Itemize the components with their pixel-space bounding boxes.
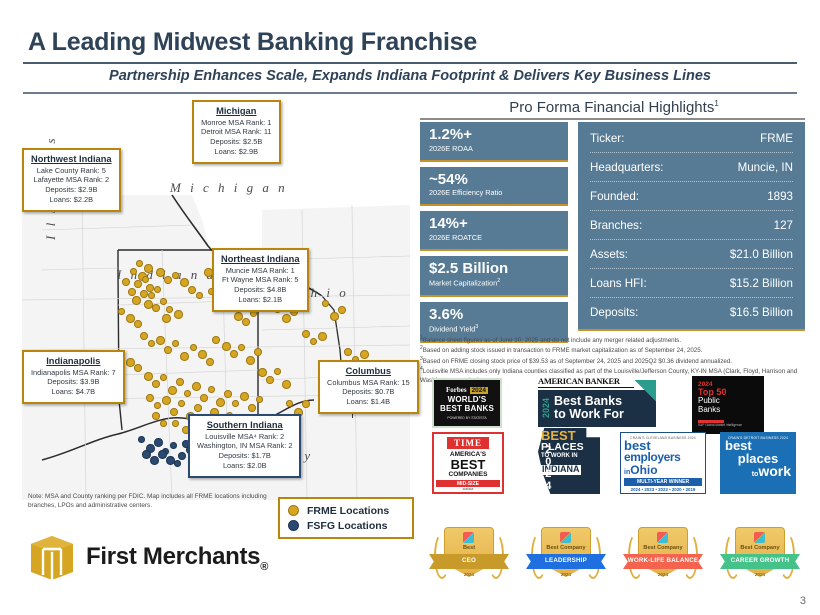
frme-location-dot (338, 306, 346, 314)
row-value: $15.2 Billion (730, 277, 793, 290)
frme-location-dot (302, 400, 310, 408)
metric-tile-roatce: 14%+ 2026E ROATCE (420, 211, 568, 251)
frme-location-dot (230, 350, 238, 358)
comparably-logo-icon (657, 532, 668, 543)
award-best-places-to-work-detroit: CRAIN'S DETROIT BUSINESS 2024 best place… (720, 432, 796, 494)
row-key: Ticker: (590, 132, 624, 145)
frme-location-dot (192, 382, 201, 391)
frme-location-dot (154, 402, 161, 409)
frme-location-dot (168, 386, 177, 395)
row-value: $16.5 Billion (730, 306, 793, 319)
callout-title: Columbus (327, 366, 410, 376)
frme-location-dot (164, 346, 172, 354)
american-banker-line-2: to Work For (554, 407, 624, 421)
frme-location-dot (148, 292, 155, 299)
award-best-places-to-work-in-indiana: BEST PLACES TO WORK IN INDIANA 2024 (538, 428, 600, 494)
fsfg-location-dot (154, 438, 163, 447)
row-key: Branches: (590, 219, 642, 232)
medal-ribbon: LEADERSHIP (526, 554, 606, 569)
row-value: Muncie, IN (738, 161, 793, 174)
table-row: Loans HFI: $15.2 Billion (590, 269, 793, 298)
forbes-source: POWERED BY STATISTA (447, 416, 486, 420)
callout-indianapolis[interactable]: Indianapolis Indianapolis MSA Rank: 7 De… (22, 350, 125, 404)
american-banker-text: Best Banks to Work For (554, 395, 624, 421)
award-time-americas-best-companies: TIME AMERICA'S BEST COMPANIES MID-SIZE s… (432, 432, 504, 494)
page-number: 3 (800, 595, 806, 607)
time-line-3: COMPANIES (436, 471, 500, 478)
callout-northwest-indiana[interactable]: Northwest Indiana Lake County Rank: 5 La… (22, 148, 121, 212)
slide: A Leading Midwest Banking Franchise Part… (0, 0, 820, 615)
frme-location-dot (122, 278, 130, 286)
medal-ribbon: CEO (429, 554, 509, 569)
callout-line: Loans: $4.7B (31, 387, 116, 397)
frme-location-dot (258, 368, 267, 377)
frme-location-dot (156, 268, 165, 277)
metric-value: 1.2%+ (429, 127, 559, 144)
row-key: Headquarters: (590, 161, 663, 174)
frme-location-dot (344, 348, 352, 356)
callout-line: Detroit MSA Rank: 11 (201, 127, 272, 137)
award-american-banker-best-banks-to-work-for: AMERICAN BANKER 2024 Best Banks to Work … (538, 376, 656, 430)
frme-location-dot (152, 412, 160, 420)
forbes-header: Forbes 2024 (446, 386, 488, 394)
frme-location-dot (172, 340, 179, 347)
medal-subtitle: Best Company (523, 545, 609, 551)
comparably-medallions: Best CEO 2024 Best Company LEADERSHIP 20… (420, 525, 812, 605)
fsfg-location-dot (170, 442, 177, 449)
row-key: Loans HFI: (590, 277, 647, 290)
callout-columbus[interactable]: Columbus Columbus MSA Rank: 15 Deposits:… (318, 360, 419, 414)
callout-line: Deposits: $3.9B (31, 377, 116, 387)
callout-line: Ft Wayne MSA Rank: 5 (221, 275, 300, 285)
callout-line: Loans: $2.0B (197, 461, 292, 471)
frme-location-dot (234, 312, 243, 321)
frme-location-dot (144, 264, 153, 273)
callout-title: Northeast Indiana (221, 254, 300, 264)
metric-label: 2026E ROAA (429, 145, 559, 154)
callout-southern-indiana[interactable]: Southern Indiana Louisville MSA⁴ Rank: 2… (188, 414, 301, 478)
title-divider (23, 62, 797, 64)
financial-title-footnote-marker: 1 (714, 99, 718, 108)
fsfg-location-dot (166, 456, 175, 465)
metric-tile-efficiency-ratio: ~54% 2026E Efficiency Ratio (420, 167, 568, 207)
row-key: Assets: (590, 248, 628, 261)
callout-line: Deposits: $1.7B (197, 451, 292, 461)
financial-title-divider (420, 118, 805, 120)
fsfg-location-dot (138, 436, 145, 443)
table-row: Founded: 1893 (590, 182, 793, 211)
page-title: A Leading Midwest Banking Franchise (28, 28, 477, 57)
metric-label: 2026E Efficiency Ratio (429, 189, 559, 198)
frme-location-dot (162, 314, 171, 323)
frme-location-dot (238, 344, 245, 351)
frme-location-dot (128, 288, 136, 296)
metric-value: 3.6% (429, 307, 559, 324)
frme-location-dot (318, 332, 327, 341)
footnote-1: 1Balance sheet figures as of June 30, 20… (420, 335, 810, 345)
subtitle-divider (23, 92, 797, 94)
metric-tile-market-cap: $2.5 Billion Market Capitalization2 (420, 256, 568, 297)
company-facts-table: Ticker: FRME Headquarters: Muncie, IN Fo… (578, 122, 805, 331)
medal-ribbon: WORK-LIFE BALANCE (623, 554, 703, 569)
ohio-years: 2024 • 2023 • 2022 • 2020 • 2019 (624, 487, 702, 492)
metric-label: 2026E ROATCE (429, 234, 559, 243)
fsfg-location-dot (174, 460, 181, 467)
callout-line: Loans: $2.9B (201, 147, 272, 157)
frme-location-dot (162, 396, 171, 405)
award-best-employers-in-ohio: CRAIN'S CLEVELAND BUSINESS 2024 best emp… (620, 432, 706, 494)
fsfg-location-dot (142, 450, 151, 459)
callout-title: Southern Indiana (197, 420, 292, 430)
frme-location-dot (132, 296, 141, 305)
callout-line: Deposits: $2.5B (201, 137, 272, 147)
frme-location-dot (160, 374, 167, 381)
time-brand: TIME (447, 437, 489, 449)
company-name: First Merchants® (86, 543, 268, 573)
table-row: Ticker: FRME (590, 124, 793, 153)
callout-line: Columbus MSA Rank: 15 (327, 378, 410, 388)
frme-location-dot (154, 286, 161, 293)
medal-subtitle: Best (426, 545, 512, 551)
frme-location-dot (176, 378, 184, 386)
frme-location-dot (178, 400, 185, 407)
medal-best-leadership: Best Company LEADERSHIP 2024 (523, 525, 609, 601)
frme-location-dot (152, 380, 160, 388)
medal-ribbon: CAREER GROWTH (720, 554, 800, 569)
callout-line: Loans: $1.4B (327, 397, 410, 407)
frme-location-dot (166, 306, 173, 313)
frme-location-dot (172, 272, 179, 279)
frme-location-dot (144, 372, 153, 381)
ribbon-corner-icon (634, 380, 656, 402)
financial-highlights-title-text: Pro Forma Financial Highlights (509, 99, 714, 116)
frme-location-dot (152, 304, 160, 312)
callout-line: Lake County Rank: 5 (31, 166, 112, 176)
callout-line: Deposits: $0.7B (327, 387, 410, 397)
footnote-3: 3Based on FRME closing stock price of $3… (420, 356, 810, 366)
frme-location-dot (256, 396, 263, 403)
time-year: 2024 (436, 491, 500, 494)
frme-location-dot (330, 312, 339, 321)
callout-michigan[interactable]: Michigan Monroe MSA Rank: 1 Detroit MSA … (192, 100, 281, 164)
metric-label: Dividend Yield3 (429, 324, 559, 334)
fsfg-location-dot (178, 452, 186, 460)
time-line-2: BEST (436, 458, 500, 471)
fsfg-dot-icon (288, 520, 299, 531)
comparably-logo-icon (463, 532, 474, 543)
frme-location-dot (160, 298, 167, 305)
frme-location-dot (254, 348, 262, 356)
callout-line: Muncie MSA Rank: 1 (221, 266, 300, 276)
callout-line: Loans: $2.1B (221, 295, 300, 305)
frme-location-dot (180, 278, 189, 287)
table-row: Deposits: $16.5 Billion (590, 298, 793, 327)
metric-value: ~54% (429, 172, 559, 189)
legend-item-frme: FRME Locations (288, 505, 404, 517)
frme-location-dot (174, 310, 183, 319)
frme-location-dot (136, 260, 143, 267)
frme-location-dot (126, 314, 135, 323)
frme-location-dot (140, 290, 148, 298)
frme-location-dot (172, 420, 179, 427)
ohio-line-3: inOhio (624, 464, 702, 476)
state-label-michigan: M i c h i g a n (170, 180, 288, 196)
legend-item-fsfg: FSFG Locations (288, 520, 404, 532)
frme-location-dot (170, 408, 178, 416)
metric-value: 14%+ (429, 216, 559, 233)
frme-location-dot (246, 356, 255, 365)
frme-location-dot (240, 392, 249, 401)
detroit-line-3: towork (725, 465, 791, 479)
frme-location-dot (184, 390, 191, 397)
forbes-brand: Forbes (446, 386, 467, 394)
frme-location-dot (310, 338, 317, 345)
frme-location-dot (134, 364, 142, 372)
medal-best-ceo: Best CEO 2024 (426, 525, 512, 601)
medal-subtitle: Best Company (620, 545, 706, 551)
metric-tile-roaa: 1.2%+ 2026E ROAA (420, 122, 568, 162)
frme-location-dot (140, 332, 148, 340)
map-note: Note: MSA and County ranking per FDIC. M… (28, 492, 278, 511)
frme-location-dot (322, 300, 329, 307)
row-value: 1893 (767, 190, 793, 203)
metric-tiles: 1.2%+ 2026E ROAA ~54% 2026E Efficiency R… (420, 122, 568, 348)
table-row: Headquarters: Muncie, IN (590, 153, 793, 182)
callout-title: Michigan (201, 106, 272, 116)
row-key: Founded: (590, 190, 639, 203)
row-value: $21.0 Billion (730, 248, 793, 261)
award-forbes-worlds-best-banks: Forbes 2024 WORLD'S BEST BANKS POWERED B… (432, 378, 502, 428)
callout-line: Indianapolis MSA Rank: 7 (31, 368, 116, 378)
metric-value: $2.5 Billion (429, 261, 559, 278)
frme-location-dot (302, 330, 310, 338)
bpi-year: 2024 (543, 444, 552, 492)
row-value: FRME (760, 132, 793, 145)
medal-year: 2024 (717, 572, 803, 577)
frme-location-dot (160, 420, 167, 427)
table-row: Branches: 127 (590, 211, 793, 240)
frme-location-dot (282, 380, 291, 389)
legend-label: FSFG Locations (307, 520, 388, 532)
footnote-2: 2Based on adding stock issued in transac… (420, 345, 810, 355)
first-merchants-cube-icon (30, 535, 74, 581)
frme-location-dot (222, 342, 231, 351)
frme-location-dot (156, 336, 165, 345)
callout-line: Washington, IN MSA Rank: 2 (197, 441, 292, 451)
frme-location-dot (206, 358, 214, 366)
frme-location-dot (180, 352, 189, 361)
table-row: Assets: $21.0 Billion (590, 240, 793, 269)
ohio-band: MULTI-YEAR WINNER (624, 478, 702, 486)
medal-career-growth: Best Company CAREER GROWTH 2024 (717, 525, 803, 601)
frme-location-dot (142, 276, 149, 283)
callout-line: Deposits: $4.8B (221, 285, 300, 295)
frme-dot-icon (288, 505, 299, 516)
frme-location-dot (134, 280, 142, 288)
frme-location-dot (188, 286, 196, 294)
callout-line: Deposits: $2.9B (31, 185, 112, 195)
financial-highlights-title: Pro Forma Financial Highlights1 (418, 99, 810, 116)
frme-location-dot (194, 404, 202, 412)
map-legend: FRME Locations FSFG Locations (278, 497, 414, 539)
time-band: MID-SIZE (436, 480, 500, 487)
frme-location-dot (212, 336, 220, 344)
callout-line: Lafayette MSA Rank: 2 (31, 175, 112, 185)
medal-subtitle: Best Company (717, 545, 803, 551)
frme-location-dot (164, 276, 172, 284)
sp-line-2: Banks (698, 406, 758, 415)
medal-year: 2024 (620, 572, 706, 577)
frme-location-dot (118, 308, 125, 315)
fsfg-location-dot (150, 456, 159, 465)
frme-location-dot (232, 400, 239, 407)
legend-label: FRME Locations (307, 505, 389, 517)
callout-title: Northwest Indiana (31, 154, 112, 164)
frme-location-dot (216, 398, 225, 407)
award-badges: Forbes 2024 WORLD'S BEST BANKS POWERED B… (420, 376, 812, 516)
frme-location-dot (198, 350, 207, 359)
row-value: 127 (774, 219, 793, 232)
frme-location-dot (266, 376, 274, 384)
frme-location-dot (134, 320, 142, 328)
frme-location-dot (130, 268, 137, 275)
frme-location-dot (248, 404, 256, 412)
frme-location-dot (274, 368, 281, 375)
frme-location-dot (200, 394, 208, 402)
frme-location-dot (126, 358, 135, 367)
frme-location-dot (282, 314, 291, 323)
american-banker-brand: AMERICAN BANKER (538, 376, 634, 388)
frme-location-dot (146, 394, 154, 402)
company-logo: First Merchants® (30, 535, 268, 581)
fsfg-location-dot (158, 450, 167, 459)
award-sp-top-50-public-banks: 2024 Top 50 Public Banks S&P Global Mark… (692, 376, 764, 434)
frme-location-dot (148, 340, 155, 347)
callout-line: Loans: $2.2B (31, 195, 112, 205)
page-subtitle: Partnership Enhances Scale, Expands Indi… (0, 68, 820, 84)
frme-location-dot (360, 350, 369, 359)
callout-northeast-indiana[interactable]: Northeast Indiana Muncie MSA Rank: 1 Ft … (212, 248, 309, 312)
row-key: Deposits: (590, 306, 638, 319)
metric-label: Market Capitalization2 (429, 278, 559, 288)
medal-work-life-balance: Best Company WORK-LIFE BALANCE 2024 (620, 525, 706, 601)
frme-location-dot (224, 390, 232, 398)
frme-location-dot (242, 318, 250, 326)
frme-location-dot (286, 400, 293, 407)
frme-location-dot (196, 292, 203, 299)
comparably-logo-icon (754, 532, 765, 543)
sp-source: S&P Global Market Intelligence (698, 424, 758, 428)
callout-line: Monroe MSA Rank: 1 (201, 118, 272, 128)
medal-year: 2024 (523, 572, 609, 577)
frme-location-dot (190, 344, 197, 351)
american-banker-body: 2024 Best Banks to Work For (538, 390, 656, 427)
forbes-line-2: BEST BANKS (440, 405, 494, 413)
medal-year: 2024 (426, 572, 512, 577)
callout-title: Indianapolis (31, 356, 116, 366)
frme-location-dot (208, 386, 215, 393)
american-banker-year: 2024 (542, 398, 551, 418)
forbes-year: 2024 (470, 387, 488, 394)
comparably-logo-icon (560, 532, 571, 543)
callout-line: Louisville MSA⁴ Rank: 2 (197, 432, 292, 442)
